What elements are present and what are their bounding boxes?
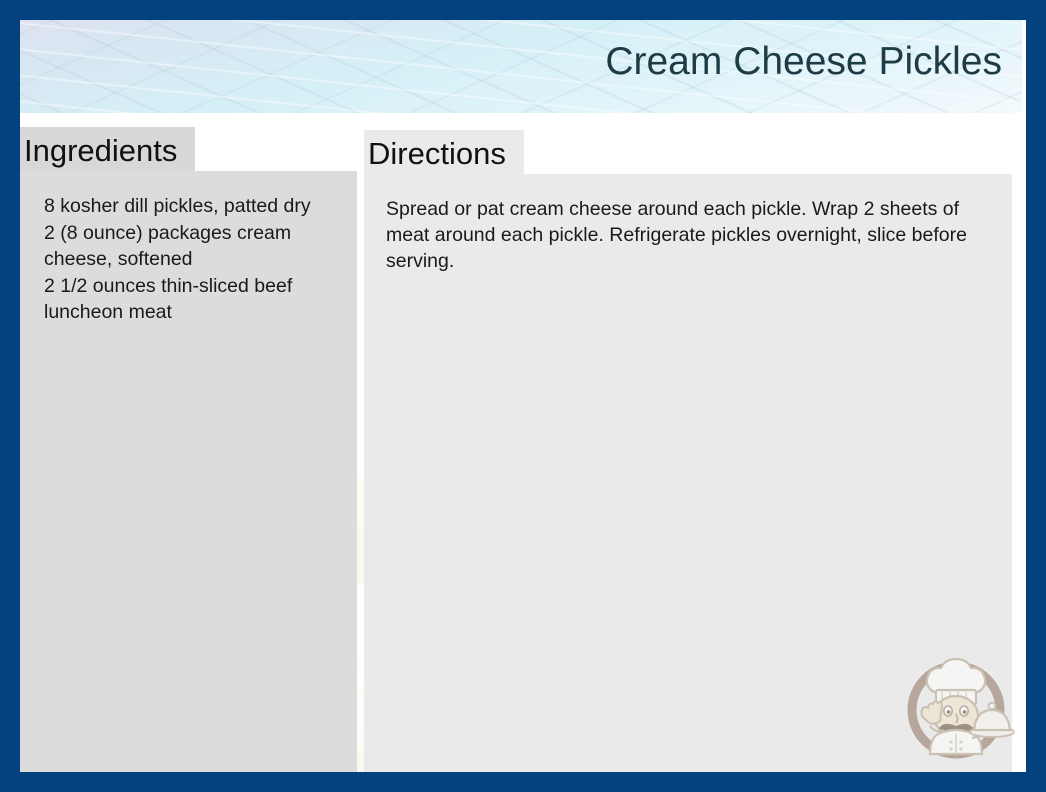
ingredients-text: 8 kosher dill pickles, patted dry 2 (8 o… xyxy=(20,171,357,326)
ingredients-panel: 8 kosher dill pickles, patted dry 2 (8 o… xyxy=(20,171,357,772)
ingredients-column: 8 kosher dill pickles, patted dry 2 (8 o… xyxy=(20,127,357,772)
directions-text: Spread or pat cream cheese around each p… xyxy=(364,174,1012,274)
ingredients-header: Ingredients xyxy=(20,127,195,171)
slide-content-area: Cream Cheese Pickles xyxy=(20,20,1026,772)
recipe-slide: Cream Cheese Pickles xyxy=(0,0,1046,792)
title-banner: Cream Cheese Pickles xyxy=(20,20,1022,113)
directions-heading: Directions xyxy=(368,136,506,172)
ingredients-heading: Ingredients xyxy=(24,133,177,169)
page-title: Cream Cheese Pickles xyxy=(605,38,1002,86)
directions-header: Directions xyxy=(364,130,524,174)
chef-mascot-logo xyxy=(896,648,1016,768)
